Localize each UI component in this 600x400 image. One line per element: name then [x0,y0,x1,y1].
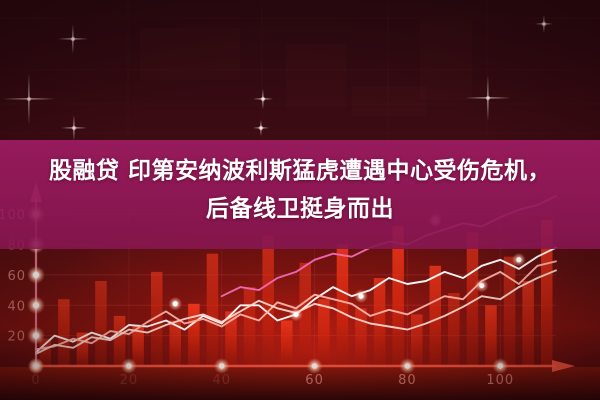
chart-bar [522,281,534,366]
chart-bar [281,321,293,367]
chart-bar [95,281,107,366]
x-axis-tick-label: 0 [31,373,40,388]
chart-bar [337,245,349,366]
chart-bar [374,278,386,366]
chart-bar [430,266,442,366]
chart-data-point [516,257,521,262]
y-axis-tick-label: 60 [7,269,26,284]
chart-data-point [479,283,484,288]
chart-bar [58,299,70,366]
banner-title-line-2: 后备线卫挺身而出 [206,196,394,222]
banner-title-line-1: 股融贷 印第安纳波利斯猛虎遭遇中心受伤危机， [49,158,551,184]
chart-bar [244,287,256,366]
chart-bar [114,316,126,366]
y-axis-tick-label: 40 [7,299,26,314]
chart-bar [188,304,200,366]
chart-bar [504,257,516,366]
screenshot-root: 20406080100 020406080100 股融贷 印第安纳波利斯猛虎遭遇… [0,0,600,400]
y-axis-tick-label: 20 [7,330,26,345]
chart-data-point [358,294,363,299]
chart-bar [318,299,330,366]
x-axis-tick-label: 20 [120,373,139,388]
chart-bar [262,236,274,367]
chart-bar [448,293,460,366]
chart-data-point [173,301,178,306]
chart-data-point [293,312,298,317]
x-axis-tick-label: 60 [305,373,324,388]
chart-bar [411,314,423,366]
chart-bar [355,308,367,366]
chart-bar [485,305,497,366]
x-axis-tick-label: 40 [212,373,231,388]
chart-bar [207,254,219,366]
x-axis-tick-label: 100 [486,373,514,388]
banner-title: 股融贷 印第安纳波利斯猛虎遭遇中心受伤危机，后备线卫挺身而出 [0,152,600,228]
x-axis-tick-label: 80 [398,373,417,388]
